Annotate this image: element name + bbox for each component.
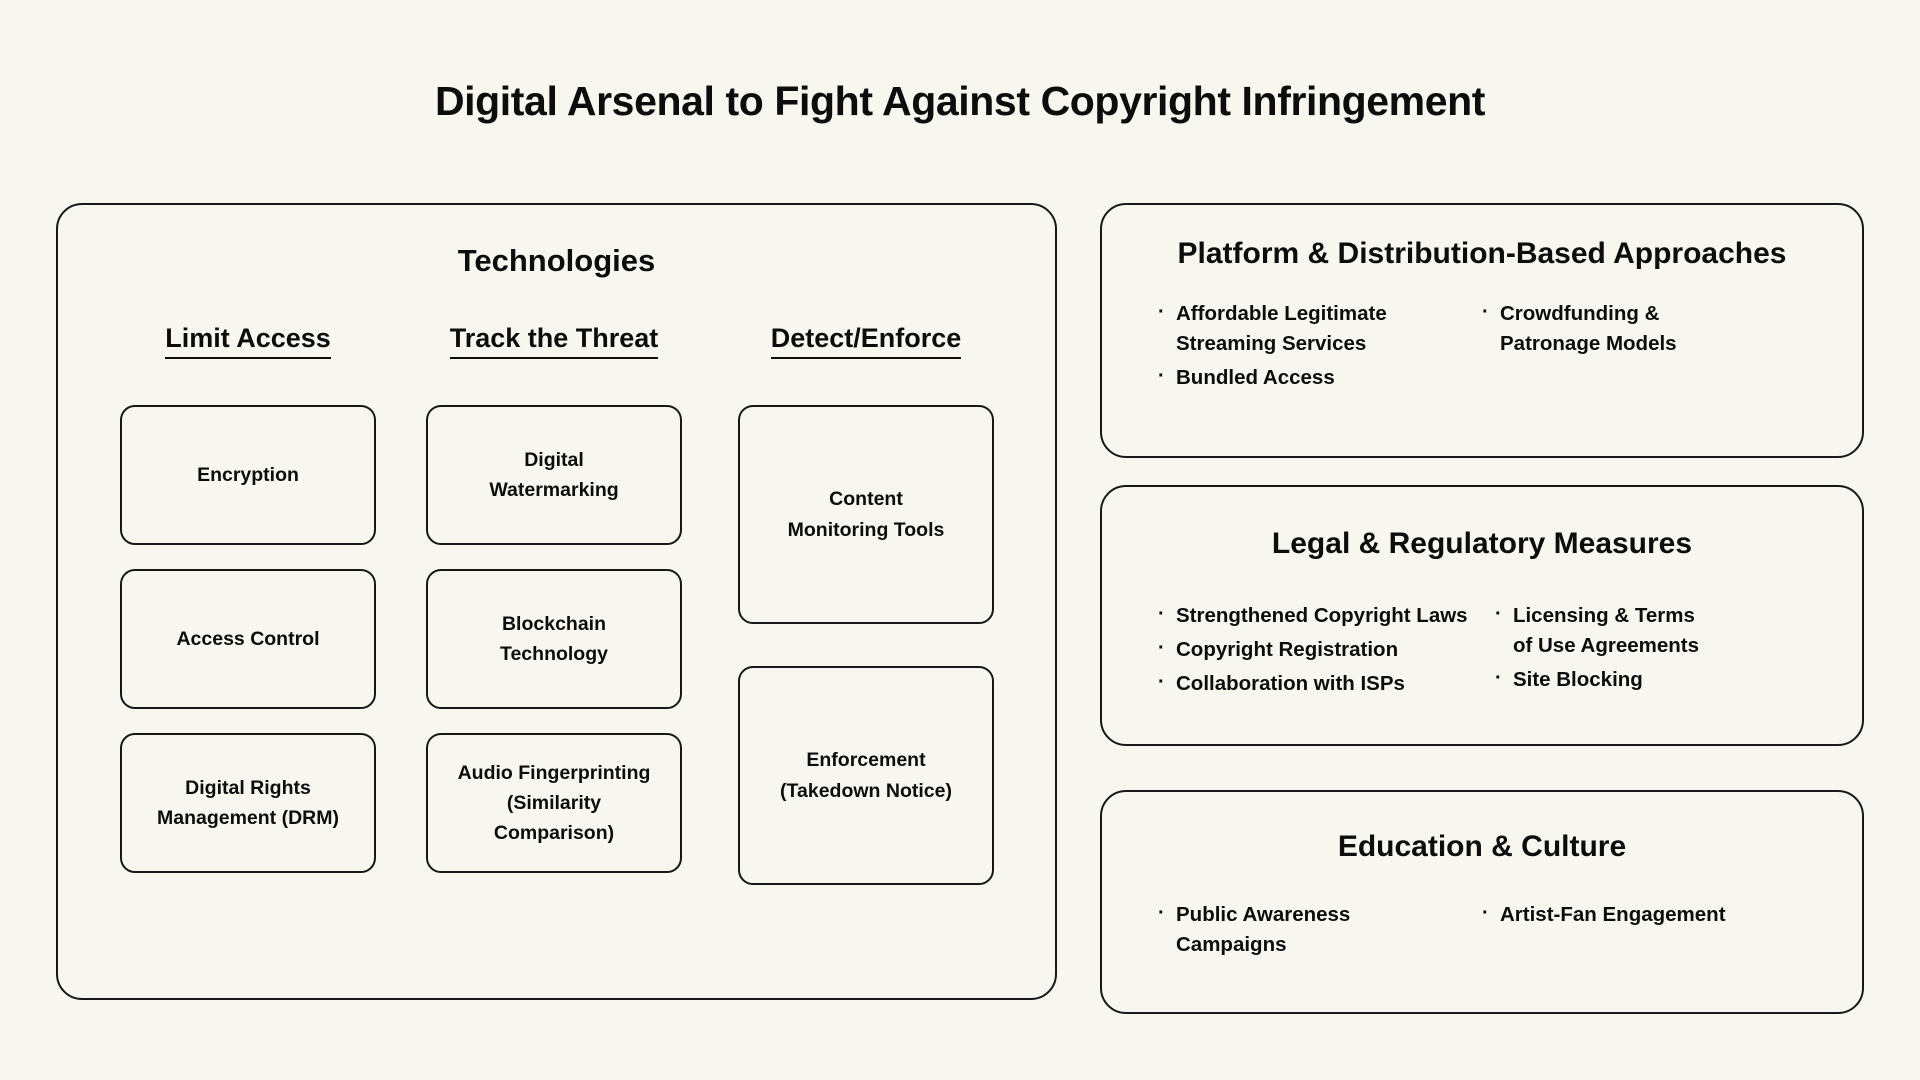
card-bullet-column: · Crowdfunding &Patronage Models <box>1482 299 1806 397</box>
tech-column-header: Limit Access <box>120 323 376 361</box>
bullet-dot-icon: · <box>1158 601 1176 627</box>
list-item[interactable]: · Crowdfunding &Patronage Models <box>1482 299 1806 359</box>
list-item[interactable]: · Site Blocking <box>1495 665 1819 695</box>
list-item-label: Collaboration with ISPs <box>1176 669 1495 699</box>
card-education-culture: Education & Culture · Public AwarenessCa… <box>1100 790 1864 1014</box>
list-item-label: Site Blocking <box>1513 665 1819 695</box>
tech-box-blockchain-technology[interactable]: BlockchainTechnology <box>426 569 682 709</box>
technologies-heading: Technologies <box>58 243 1055 279</box>
card-platform-distribution: Platform & Distribution-Based Approaches… <box>1100 203 1864 458</box>
tech-box-digital-watermarking[interactable]: DigitalWatermarking <box>426 405 682 545</box>
card-title: Platform & Distribution-Based Approaches <box>1102 237 1862 271</box>
tech-box-label: Enforcement(Takedown Notice) <box>780 745 952 805</box>
tech-box-label: Audio Fingerprinting(SimilarityCompariso… <box>458 758 651 849</box>
tech-column-header: Detect/Enforce <box>738 323 994 361</box>
tech-box-label: BlockchainTechnology <box>500 609 608 669</box>
tech-box-enforcement-takedown-notice[interactable]: Enforcement(Takedown Notice) <box>738 666 994 885</box>
bullet-dot-icon: · <box>1495 601 1513 627</box>
bullet-dot-icon: · <box>1495 665 1513 691</box>
tech-column-header-label: Track the Threat <box>450 323 659 359</box>
card-title: Education & Culture <box>1102 830 1862 864</box>
card-title: Legal & Regulatory Measures <box>1102 527 1862 561</box>
tech-box-label: Encryption <box>197 460 299 490</box>
list-item[interactable]: · Affordable LegitimateStreaming Service… <box>1158 299 1482 359</box>
bullet-dot-icon: · <box>1482 299 1500 325</box>
list-item-label: Affordable LegitimateStreaming Services <box>1176 299 1482 359</box>
card-bullet-grid: · Affordable LegitimateStreaming Service… <box>1102 299 1862 397</box>
list-item-label: Licensing & Termsof Use Agreements <box>1513 601 1819 661</box>
list-item-label: Bundled Access <box>1176 363 1482 393</box>
list-item[interactable]: · Collaboration with ISPs <box>1158 669 1495 699</box>
diagram-canvas: Digital Arsenal to Fight Against Copyrig… <box>0 0 1920 1080</box>
list-item[interactable]: · Licensing & Termsof Use Agreements <box>1495 601 1819 661</box>
card-bullet-column: · Affordable LegitimateStreaming Service… <box>1158 299 1482 397</box>
bullet-dot-icon: · <box>1158 635 1176 661</box>
tech-column-limit-access: Limit Access Encryption Access Control D… <box>120 323 376 897</box>
list-item-label: Artist-Fan Engagement <box>1500 900 1806 930</box>
tech-column-detect-enforce: Detect/Enforce ContentMonitoring Tools E… <box>738 323 994 909</box>
card-bullet-grid: · Strengthened Copyright Laws · Copyrigh… <box>1102 601 1862 703</box>
tech-box-encryption[interactable]: Encryption <box>120 405 376 545</box>
tech-box-label: ContentMonitoring Tools <box>788 484 945 544</box>
card-bullet-column: · Public AwarenessCampaigns <box>1158 900 1482 964</box>
tech-column-header-label: Detect/Enforce <box>771 323 962 359</box>
list-item[interactable]: · Bundled Access <box>1158 363 1482 393</box>
page-title: Digital Arsenal to Fight Against Copyrig… <box>0 78 1920 125</box>
tech-box-label: Digital RightsManagement (DRM) <box>157 773 339 833</box>
list-item-label: Public AwarenessCampaigns <box>1176 900 1482 960</box>
bullet-dot-icon: · <box>1158 669 1176 695</box>
tech-box-digital-rights-management[interactable]: Digital RightsManagement (DRM) <box>120 733 376 873</box>
tech-column-header: Track the Threat <box>426 323 682 361</box>
list-item-label: Strengthened Copyright Laws <box>1176 601 1495 631</box>
tech-box-audio-fingerprinting[interactable]: Audio Fingerprinting(SimilarityCompariso… <box>426 733 682 873</box>
list-item[interactable]: · Copyright Registration <box>1158 635 1495 665</box>
list-item-label: Crowdfunding &Patronage Models <box>1500 299 1806 359</box>
tech-box-content-monitoring-tools[interactable]: ContentMonitoring Tools <box>738 405 994 624</box>
list-item[interactable]: · Public AwarenessCampaigns <box>1158 900 1482 960</box>
bullet-dot-icon: · <box>1158 900 1176 926</box>
technologies-panel: Technologies Limit Access Encryption Acc… <box>56 203 1057 1000</box>
bullet-dot-icon: · <box>1158 299 1176 325</box>
tech-box-access-control[interactable]: Access Control <box>120 569 376 709</box>
tech-box-label: Access Control <box>176 624 319 654</box>
card-legal-regulatory: Legal & Regulatory Measures · Strengthen… <box>1100 485 1864 746</box>
card-bullet-column: · Licensing & Termsof Use Agreements · S… <box>1495 601 1819 703</box>
card-bullet-column: · Artist-Fan Engagement <box>1482 900 1806 964</box>
card-bullet-grid: · Public AwarenessCampaigns · Artist-Fan… <box>1102 900 1862 964</box>
tech-column-header-label: Limit Access <box>165 323 331 359</box>
bullet-dot-icon: · <box>1482 900 1500 926</box>
list-item[interactable]: · Strengthened Copyright Laws <box>1158 601 1495 631</box>
list-item[interactable]: · Artist-Fan Engagement <box>1482 900 1806 930</box>
tech-box-label: DigitalWatermarking <box>489 445 618 505</box>
tech-column-track-the-threat: Track the Threat DigitalWatermarking Blo… <box>426 323 682 897</box>
list-item-label: Copyright Registration <box>1176 635 1495 665</box>
card-bullet-column: · Strengthened Copyright Laws · Copyrigh… <box>1158 601 1495 703</box>
bullet-dot-icon: · <box>1158 363 1176 389</box>
